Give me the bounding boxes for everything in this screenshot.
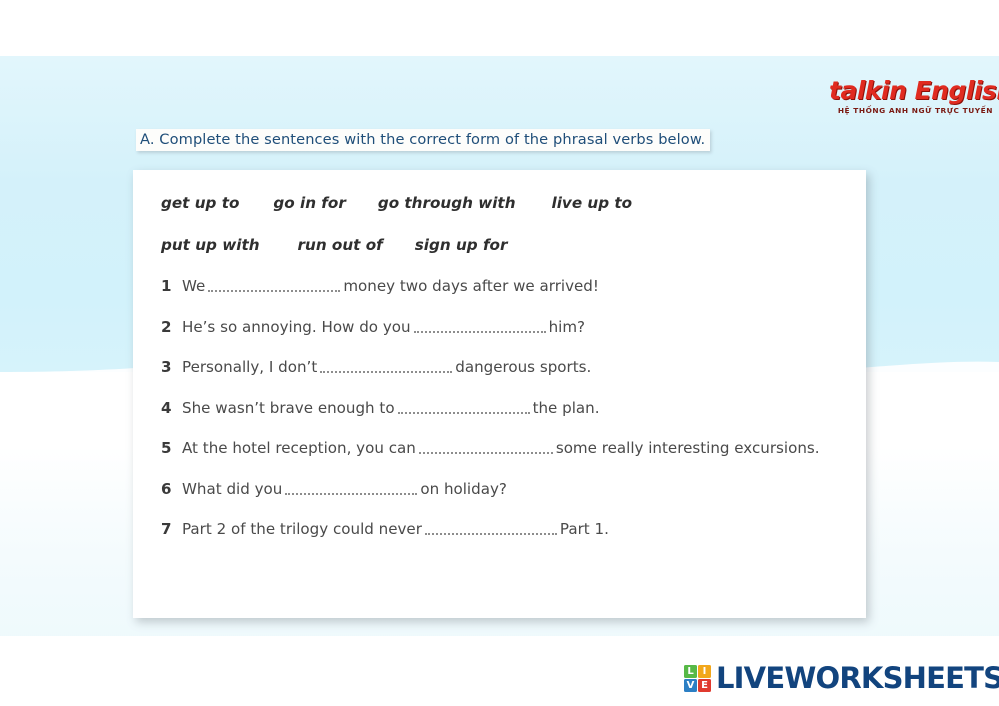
liveworksheets-wordmark: LIVEWORKSHEETS: [716, 663, 999, 693]
question-item: 7Part 2 of the trilogy could neverPart 1…: [161, 519, 841, 539]
question-item: 4She wasn’t brave enough tothe plan.: [161, 398, 841, 418]
brand-name: talkin English: [829, 78, 993, 104]
background-band-top: [0, 0, 999, 58]
question-text-after: dangerous sports.: [455, 358, 591, 376]
word-bank-item[interactable]: put up with: [161, 224, 260, 266]
word-bank-item[interactable]: go in for: [273, 182, 345, 224]
question-text-after: Part 1.: [560, 520, 609, 538]
brand-tagline: HỆ THỐNG ANH NGỮ TRỰC TUYẾN: [829, 105, 993, 116]
word-bank-row-2: put up withrun out ofsign up for: [161, 224, 841, 266]
question-number: 1: [161, 276, 182, 296]
tile-letter-v: V: [684, 679, 697, 692]
question-text-before: Part 2 of the trilogy could never: [182, 520, 422, 538]
question-number: 6: [161, 479, 182, 499]
talkin-english-logo: talkin English HỆ THỐNG ANH NGỮ TRỰC TUY…: [829, 78, 993, 116]
tile-letter-l: L: [684, 665, 697, 678]
question-list: 1Wemoney two days after we arrived! 2He’…: [161, 276, 841, 560]
question-item: 6What did youon holiday?: [161, 479, 841, 499]
question-text-before: He’s so annoying. How do you: [182, 318, 411, 336]
question-text-after: the plan.: [533, 399, 600, 417]
question-text-after: him?: [549, 318, 585, 336]
answer-blank[interactable]: [414, 320, 546, 333]
exercise-instruction: A. Complete the sentences with the corre…: [136, 129, 710, 151]
word-bank-item[interactable]: sign up for: [415, 224, 508, 266]
question-text-before: She wasn’t brave enough to: [182, 399, 395, 417]
answer-blank[interactable]: [398, 401, 530, 414]
question-item: 3Personally, I don’tdangerous sports.: [161, 357, 841, 377]
question-text-after: on holiday?: [420, 480, 507, 498]
word-bank-item[interactable]: run out of: [298, 224, 383, 266]
word-bank-row-1: get up togo in forgo through withlive up…: [161, 182, 841, 224]
answer-blank[interactable]: [320, 360, 452, 373]
question-item: 2He’s so annoying. How do youhim?: [161, 317, 841, 337]
question-number: 2: [161, 317, 182, 337]
question-item: 1Wemoney two days after we arrived!: [161, 276, 841, 296]
worksheet-card: get up togo in forgo through withlive up…: [133, 170, 866, 618]
word-bank-item[interactable]: get up to: [161, 182, 239, 224]
worksheet-page: talkin English HỆ THỐNG ANH NGỮ TRỰC TUY…: [0, 0, 999, 706]
question-text-before: What did you: [182, 480, 282, 498]
answer-blank[interactable]: [285, 482, 417, 495]
phrasal-verb-word-bank: get up togo in forgo through withlive up…: [161, 182, 841, 266]
tile-letter-e: E: [698, 679, 711, 692]
question-number: 7: [161, 519, 182, 539]
question-number: 5: [161, 438, 182, 458]
answer-blank[interactable]: [208, 279, 340, 292]
word-bank-item[interactable]: live up to: [552, 182, 633, 224]
question-number: 3: [161, 357, 182, 377]
question-text-before: We: [182, 277, 205, 295]
question-text-after: money two days after we arrived!: [343, 277, 599, 295]
question-text-before: Personally, I don’t: [182, 358, 317, 376]
answer-blank[interactable]: [419, 441, 553, 454]
question-text-after: some really interesting excursions.: [556, 439, 820, 457]
question-item: 5At the hotel reception, you cansome rea…: [161, 438, 841, 458]
liveworksheets-logo: L I V E LIVEWORKSHEETS: [684, 663, 999, 693]
word-bank-item[interactable]: go through with: [378, 182, 516, 224]
tile-letter-i: I: [698, 665, 711, 678]
answer-blank[interactable]: [425, 522, 557, 535]
question-text-before: At the hotel reception, you can: [182, 439, 416, 457]
question-number: 4: [161, 398, 182, 418]
liveworksheets-tile-icon: L I V E: [684, 665, 711, 692]
